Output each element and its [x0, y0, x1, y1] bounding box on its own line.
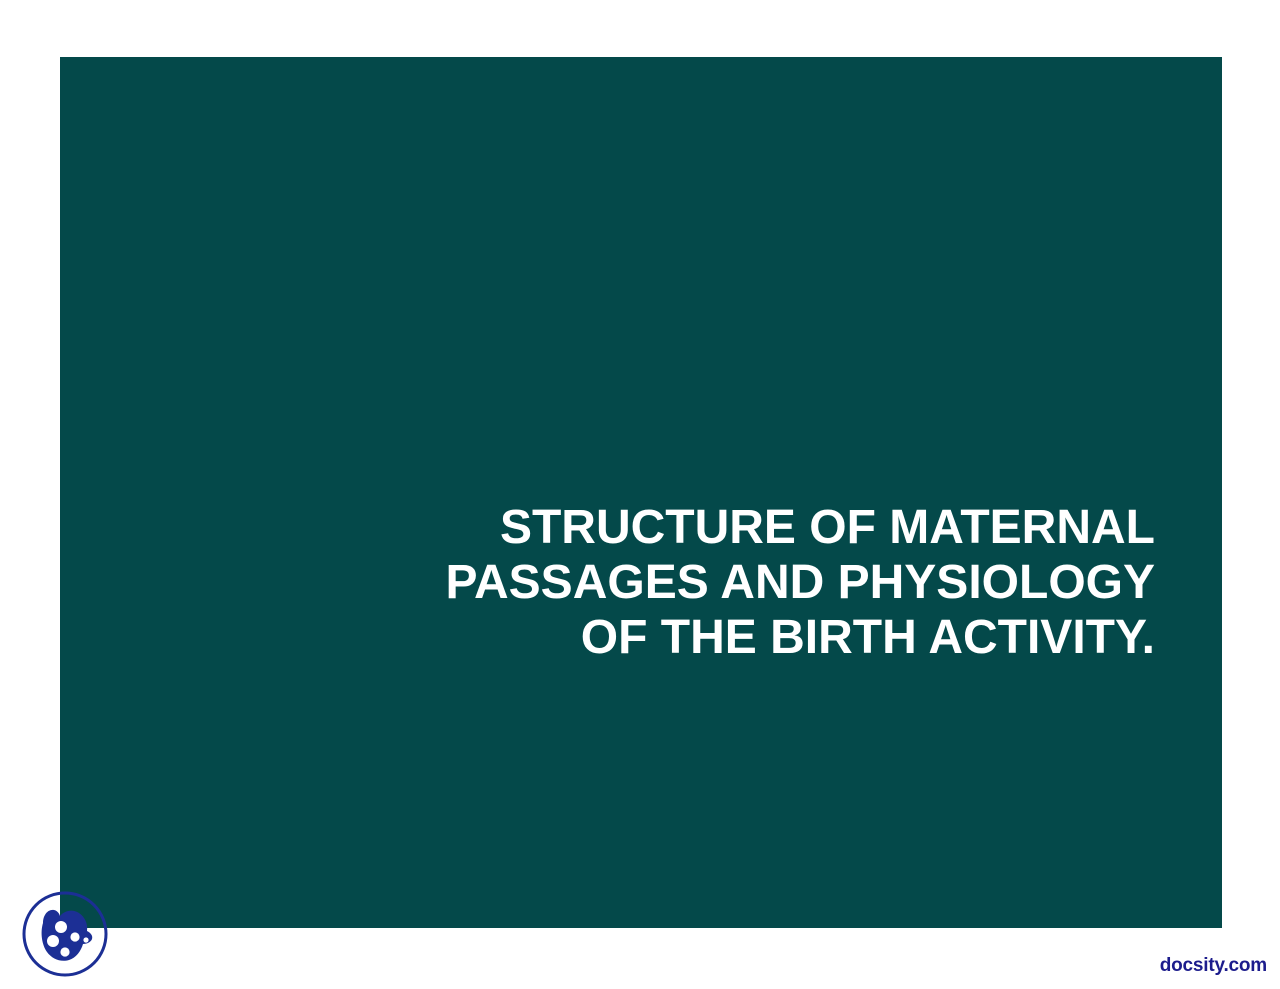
- brand-label: docsity.com: [1160, 955, 1267, 976]
- slide-title-line-3: OF THE BIRTH ACTIVITY.: [380, 610, 1155, 665]
- brand-footer: docsity.com: [1142, 955, 1267, 977]
- slide-page: STRUCTURE OF MATERNAL PASSAGES AND PHYSI…: [0, 0, 1280, 989]
- slide-canvas: STRUCTURE OF MATERNAL PASSAGES AND PHYSI…: [60, 57, 1222, 928]
- slide-title-line-1: STRUCTURE OF MATERNAL: [380, 500, 1155, 555]
- docsity-logo-icon: [21, 889, 109, 979]
- slide-title: STRUCTURE OF MATERNAL PASSAGES AND PHYSI…: [380, 500, 1155, 665]
- slide-title-line-2: PASSAGES AND PHYSIOLOGY: [380, 555, 1155, 610]
